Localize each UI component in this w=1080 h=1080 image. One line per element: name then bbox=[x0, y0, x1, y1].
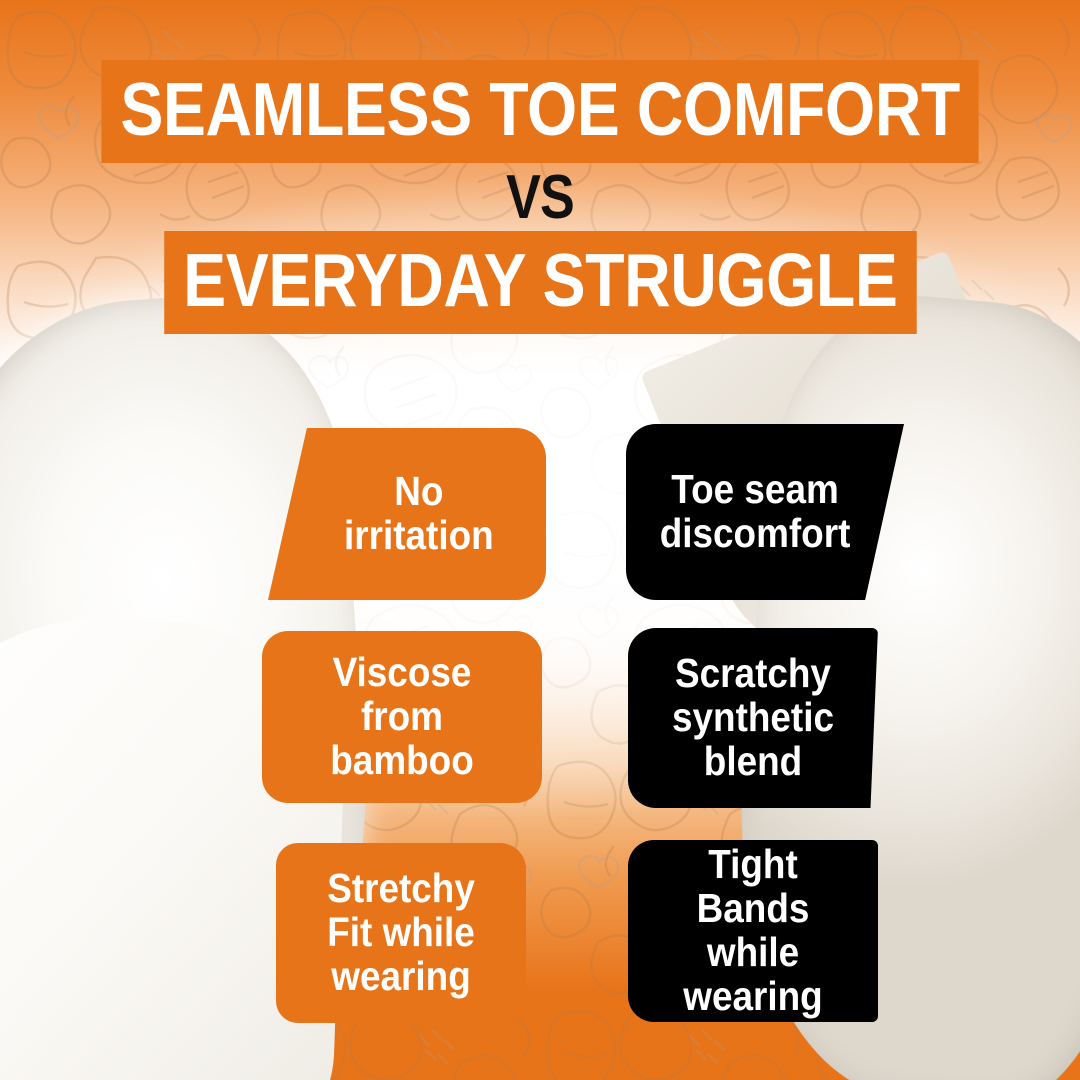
con-card-3-label: Tight Bands while wearing bbox=[655, 843, 851, 1018]
pro-card-3: Stretchy Fit while wearing bbox=[276, 843, 526, 1023]
infographic-canvas: SEAMLESS TOE COMFORT VS EVERYDAY STRUGGL… bbox=[0, 0, 1080, 1080]
headline-vs: VS bbox=[86, 167, 993, 229]
headline-block: SEAMLESS TOE COMFORT VS EVERYDAY STRUGGL… bbox=[0, 60, 1080, 334]
pro-card-2: Viscose from bamboo bbox=[262, 631, 542, 803]
con-card-2-label: Scratchy synthetic blend bbox=[672, 652, 834, 784]
con-card-1: Toe seam discomfort bbox=[626, 424, 904, 600]
headline-line-2: EVERYDAY STRUGGLE bbox=[164, 231, 916, 334]
con-card-3: Tight Bands while wearing bbox=[628, 840, 878, 1022]
con-card-1-label: Toe seam discomfort bbox=[660, 468, 870, 556]
pro-card-2-label: Viscose from bamboo bbox=[290, 651, 513, 783]
pro-card-3-label: Stretchy Fit while wearing bbox=[327, 867, 475, 999]
con-card-2: Scratchy synthetic blend bbox=[628, 628, 878, 808]
pro-card-1: No irritation bbox=[268, 428, 546, 600]
headline-line-1: SEAMLESS TOE COMFORT bbox=[101, 60, 978, 163]
pro-card-1-label: No irritation bbox=[320, 470, 493, 558]
